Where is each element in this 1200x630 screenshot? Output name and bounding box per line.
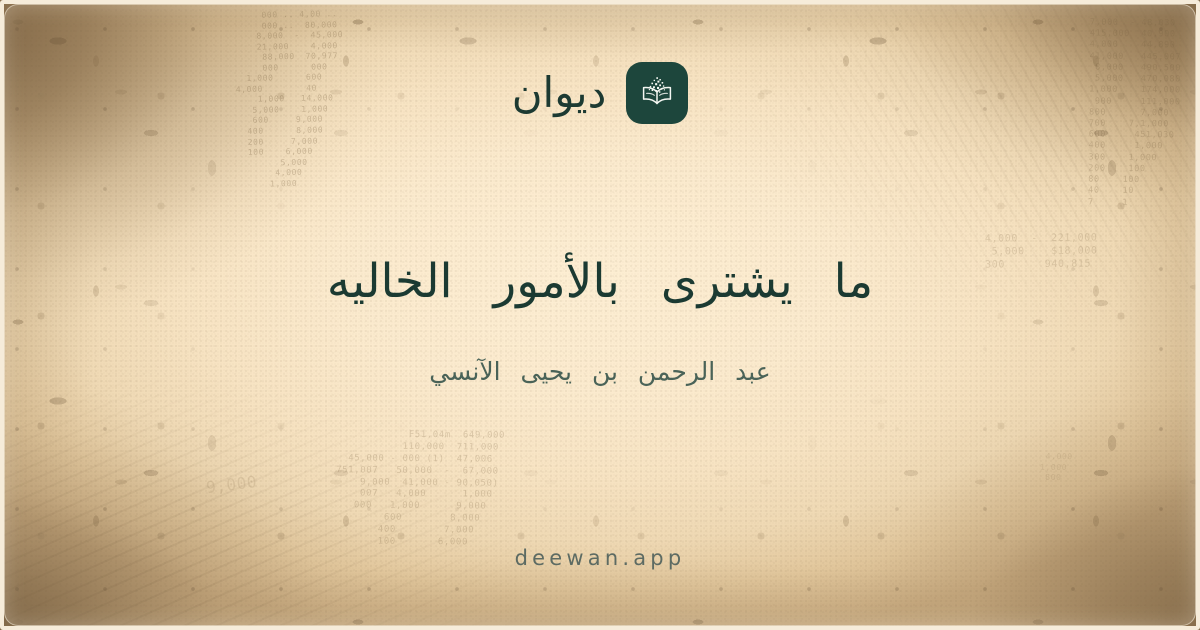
card-frame-border: [0, 0, 1200, 630]
poem-share-card: .. 4,00 .. 000 80,000 .. 000 45,000 - 8,…: [0, 0, 1200, 630]
